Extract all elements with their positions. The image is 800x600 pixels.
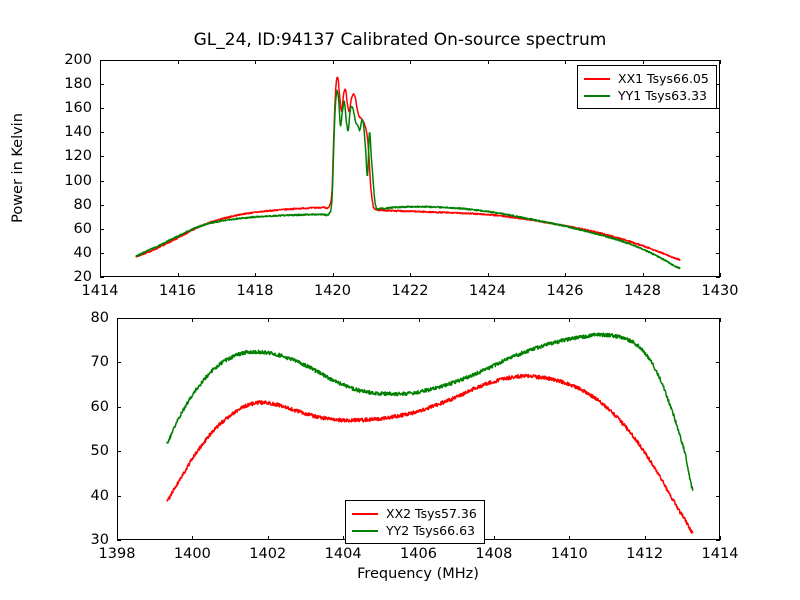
legend-color-swatch <box>352 513 378 515</box>
x-axis-tick <box>643 60 644 64</box>
legend-color-swatch <box>584 78 610 80</box>
x-axis-tick <box>488 273 489 277</box>
page-title: GL_24, ID:94137 Calibrated On-source spe… <box>0 30 800 50</box>
x-axis-tick <box>488 60 489 64</box>
y-axis-tick <box>716 496 720 497</box>
x-axis-tick-label: 1422 <box>392 283 429 299</box>
y-axis-tick <box>100 253 104 254</box>
top-panel-y-axis-label: Power in Kelvin <box>10 113 26 223</box>
y-axis-tick-label: 140 <box>44 124 92 140</box>
y-axis-tick <box>100 60 104 61</box>
y-axis-tick-label: 40 <box>44 245 92 261</box>
y-axis-tick <box>716 205 720 206</box>
x-axis-tick-label: 1408 <box>475 546 512 562</box>
x-axis-tick-label: 1402 <box>249 546 286 562</box>
bottom-panel-x-axis-label: Frequency (MHz) <box>357 566 479 582</box>
x-axis-tick <box>333 60 334 64</box>
y-axis-tick <box>716 132 720 133</box>
y-axis-tick <box>100 229 104 230</box>
x-axis-tick <box>333 273 334 277</box>
legend-color-swatch <box>584 95 610 97</box>
y-axis-tick <box>117 496 121 497</box>
x-axis-tick <box>494 318 495 322</box>
x-axis-tick-label: 1416 <box>159 283 196 299</box>
y-axis-tick-label: 50 <box>61 443 109 459</box>
x-axis-tick <box>192 318 193 322</box>
x-axis-tick <box>410 60 411 64</box>
y-axis-tick-label: 80 <box>44 197 92 213</box>
figure-canvas: GL_24, ID:94137 Calibrated On-source spe… <box>0 0 800 600</box>
x-axis-tick <box>569 318 570 322</box>
x-axis-tick <box>565 60 566 64</box>
legend-item-label: XX2 Tsys57.36 <box>386 506 477 521</box>
x-axis-tick <box>569 536 570 540</box>
y-axis-tick <box>100 84 104 85</box>
y-axis-tick <box>716 318 720 319</box>
legend-item-label: YY2 Tsys66.63 <box>386 523 475 538</box>
legend-item[interactable]: YY1 Tsys63.33 <box>584 87 709 104</box>
x-axis-tick <box>255 60 256 64</box>
x-axis-tick-label: 1400 <box>174 546 211 562</box>
y-axis-tick <box>716 60 720 61</box>
x-axis-tick-label: 1414 <box>702 546 739 562</box>
y-axis-tick <box>100 108 104 109</box>
top-panel-legend: XX1 Tsys66.05 YY1 Tsys63.33 <box>577 65 717 109</box>
x-axis-tick <box>343 318 344 322</box>
y-axis-tick <box>716 451 720 452</box>
x-axis-tick-label: 1412 <box>626 546 663 562</box>
y-axis-tick <box>117 451 121 452</box>
data-series-line <box>136 90 681 268</box>
y-axis-tick <box>716 277 720 278</box>
y-axis-tick <box>716 540 720 541</box>
x-axis-tick <box>645 318 646 322</box>
x-axis-tick-label: 1404 <box>325 546 362 562</box>
x-axis-tick <box>410 273 411 277</box>
y-axis-tick-label: 40 <box>61 488 109 504</box>
x-axis-tick <box>178 60 179 64</box>
bottom-panel-legend: XX2 Tsys57.36 YY2 Tsys66.63 <box>345 500 485 544</box>
y-axis-tick <box>100 156 104 157</box>
x-axis-tick-label: 1410 <box>551 546 588 562</box>
x-axis-tick <box>178 273 179 277</box>
x-axis-tick-label: 1426 <box>547 283 584 299</box>
x-axis-tick <box>494 536 495 540</box>
legend-item[interactable]: XX1 Tsys66.05 <box>584 70 709 87</box>
y-axis-tick <box>117 318 121 319</box>
y-axis-tick-label: 60 <box>61 399 109 415</box>
x-axis-tick-label: 1420 <box>314 283 351 299</box>
y-axis-tick-label: 20 <box>44 269 92 285</box>
x-axis-tick <box>268 318 269 322</box>
y-axis-tick-label: 200 <box>44 52 92 68</box>
legend-item-label: XX1 Tsys66.05 <box>618 71 709 86</box>
y-axis-tick-label: 120 <box>44 148 92 164</box>
y-axis-tick <box>716 229 720 230</box>
x-axis-tick <box>645 536 646 540</box>
x-axis-tick-label: 1398 <box>99 546 136 562</box>
legend-color-swatch <box>352 530 378 532</box>
x-axis-tick <box>343 536 344 540</box>
y-axis-tick <box>117 540 121 541</box>
y-axis-tick-label: 160 <box>44 100 92 116</box>
y-axis-tick-label: 80 <box>61 310 109 326</box>
y-axis-tick-label: 70 <box>61 354 109 370</box>
legend-item-label: YY1 Tsys63.33 <box>618 88 707 103</box>
y-axis-tick <box>716 407 720 408</box>
y-axis-tick-label: 60 <box>44 221 92 237</box>
x-axis-tick-label: 1418 <box>237 283 274 299</box>
x-axis-tick <box>268 536 269 540</box>
x-axis-tick-label: 1424 <box>469 283 506 299</box>
x-axis-tick-label: 1428 <box>624 283 661 299</box>
x-axis-tick <box>565 273 566 277</box>
y-axis-tick <box>716 362 720 363</box>
x-axis-tick <box>255 273 256 277</box>
x-axis-tick <box>643 273 644 277</box>
x-axis-tick <box>720 318 721 322</box>
y-axis-tick <box>100 181 104 182</box>
x-axis-tick <box>192 536 193 540</box>
y-axis-tick <box>716 156 720 157</box>
y-axis-tick-label: 180 <box>44 76 92 92</box>
y-axis-tick <box>117 407 121 408</box>
y-axis-tick <box>100 205 104 206</box>
y-axis-tick <box>100 277 104 278</box>
x-axis-tick <box>419 318 420 322</box>
x-axis-tick <box>720 273 721 277</box>
legend-item[interactable]: XX2 Tsys57.36 <box>352 505 477 522</box>
y-axis-tick <box>716 253 720 254</box>
y-axis-tick <box>117 362 121 363</box>
x-axis-tick <box>720 60 721 64</box>
x-axis-tick <box>720 536 721 540</box>
y-axis-tick <box>716 181 720 182</box>
x-axis-tick-label: 1406 <box>400 546 437 562</box>
x-axis-tick-label: 1430 <box>702 283 739 299</box>
y-axis-tick-label: 30 <box>61 532 109 548</box>
legend-item[interactable]: YY2 Tsys66.63 <box>352 522 477 539</box>
y-axis-tick-label: 100 <box>44 173 92 189</box>
x-axis-tick-label: 1414 <box>82 283 119 299</box>
y-axis-tick <box>100 132 104 133</box>
